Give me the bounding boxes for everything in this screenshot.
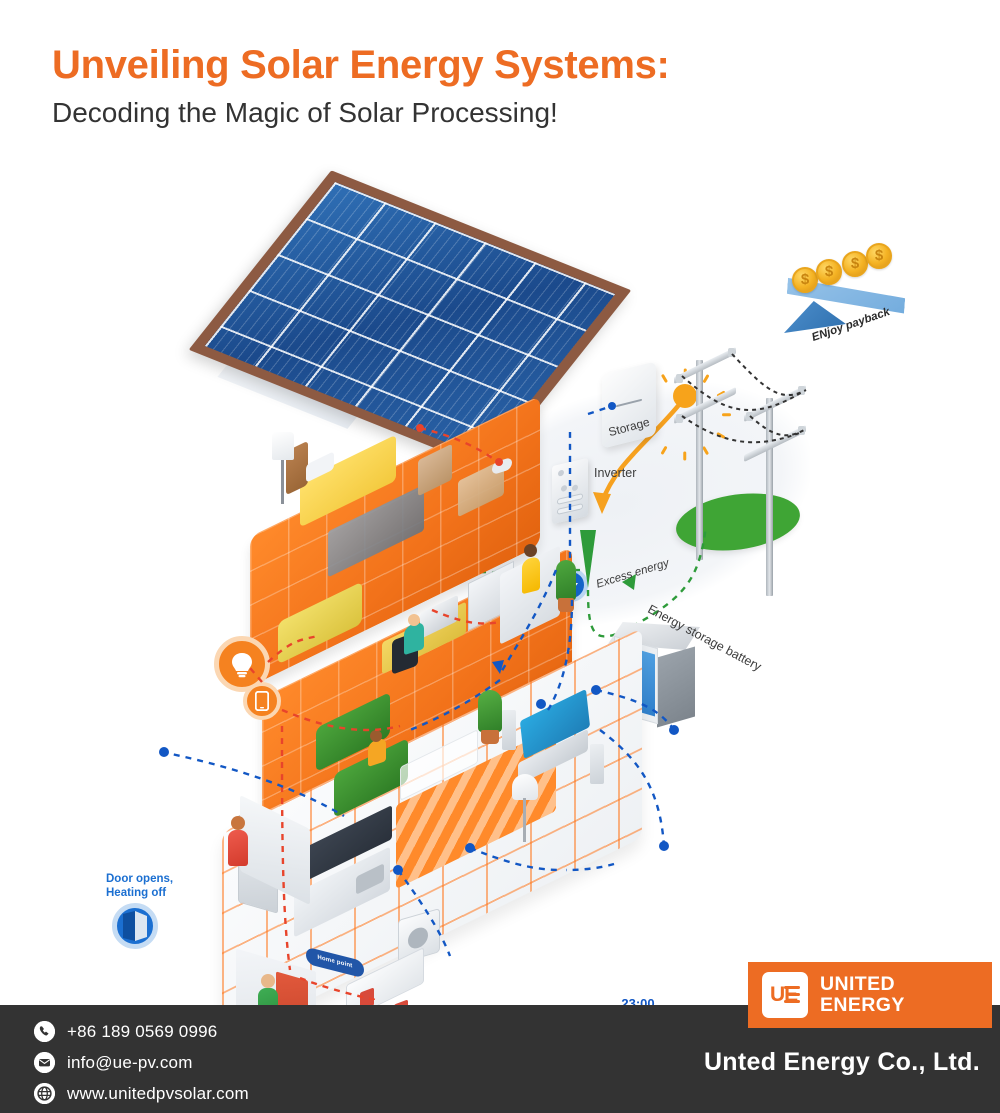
power-lines <box>660 340 890 500</box>
contact-row-email[interactable]: info@ue-pv.com <box>34 1048 249 1077</box>
door-glyph <box>120 910 150 942</box>
phone-number: +86 189 0569 0996 <box>67 1022 217 1042</box>
contact-row-phone[interactable]: +86 189 0569 0996 <box>34 1017 249 1046</box>
globe-icon <box>34 1083 55 1104</box>
door-heating-label: Door opens, Heating off <box>106 872 256 901</box>
envelope-glyph <box>34 1052 55 1073</box>
table-lamp <box>512 774 538 800</box>
potted-plant <box>556 560 576 600</box>
logo-bar <box>784 1000 800 1003</box>
logo-line1: UNITED <box>820 974 905 995</box>
lamp-pole <box>523 798 526 842</box>
phone-icon <box>34 1021 55 1042</box>
floor-lamp <box>272 432 294 460</box>
floor-lamp-pole <box>281 460 284 504</box>
inverter-indicator <box>558 469 564 476</box>
globe-glyph <box>34 1083 55 1104</box>
person-head <box>370 730 382 742</box>
smartphone-icon[interactable] <box>243 682 281 720</box>
person-head <box>231 816 245 830</box>
company-name: Unted Energy Co., Ltd. <box>704 1048 980 1077</box>
header: Unveiling Solar Energy Systems: Decoding… <box>52 44 952 129</box>
coin-icon: $ <box>842 251 868 277</box>
door-label-line2: Heating off <box>106 886 256 900</box>
contact-list: +86 189 0569 0996 info@ue-pv.com <box>34 1017 249 1110</box>
coin-icon: $ <box>816 259 842 285</box>
page-title: Unveiling Solar Energy Systems: <box>52 44 952 87</box>
person-head <box>261 974 275 988</box>
logo-line2: ENERGY <box>820 995 905 1016</box>
website-url: www.unitedpvsolar.com <box>67 1084 249 1104</box>
phone-glyph <box>255 691 269 711</box>
person-head <box>524 544 537 557</box>
bulb-glyph <box>229 650 255 678</box>
logo-bar <box>784 986 800 989</box>
logo-bar <box>788 993 800 996</box>
page-subtitle: Decoding the Magic of Solar Processing! <box>52 97 952 129</box>
solar-cells <box>205 182 615 458</box>
coin-icon: $ <box>866 243 892 269</box>
door-label-line1: Door opens, <box>106 872 256 886</box>
email-address: info@ue-pv.com <box>67 1053 193 1073</box>
door-icon[interactable] <box>112 903 158 949</box>
person-woman-yellow <box>522 556 540 594</box>
utility-grid <box>660 340 890 560</box>
person-head <box>408 614 420 626</box>
plant-pot <box>558 598 574 612</box>
phone-glyph <box>34 1021 55 1042</box>
solar-system-illustration: $ $ $ $ ENjoy payback <box>0 170 1000 1000</box>
logo-wordmark: UNITED ENERGY <box>820 974 905 1016</box>
indoor-tree <box>478 690 502 732</box>
logo-mark: UE <box>762 972 808 1018</box>
speaker-left <box>502 710 516 750</box>
poster-canvas: Unveiling Solar Energy Systems: Decoding… <box>0 0 1000 1113</box>
inverter-indicator <box>572 484 578 491</box>
inverter-unit <box>552 458 588 524</box>
inverter-label: Inverter <box>594 466 636 480</box>
indoor-tree-pot <box>481 730 499 744</box>
coin-icon: $ <box>792 267 818 293</box>
email-icon <box>34 1052 55 1073</box>
inverter-indicator <box>561 485 567 492</box>
contact-row-website[interactable]: www.unitedpvsolar.com <box>34 1079 249 1108</box>
battery-side-panel <box>657 647 695 728</box>
person-woman-red <box>228 830 248 866</box>
speaker-right <box>590 744 604 784</box>
company-logo: UE UNITED ENERGY <box>748 962 992 1028</box>
inverter-display <box>557 503 583 515</box>
payback-badge: $ $ $ $ ENjoy payback <box>782 245 932 355</box>
